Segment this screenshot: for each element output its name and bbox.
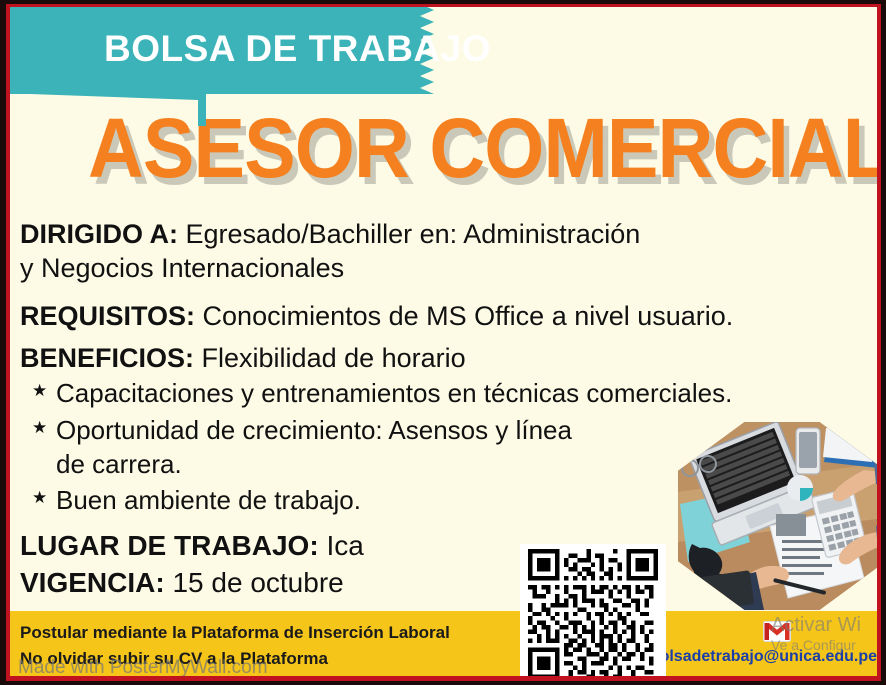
list-item: ★ Oportunidad de crecimiento: Asensos y … — [20, 415, 850, 445]
qr-code[interactable] — [520, 544, 666, 684]
header-ribbon: BOLSA DE TRABAJO — [6, 4, 458, 100]
job-posting-poster: BOLSA DE TRABAJO — [0, 0, 886, 685]
section-label: LUGAR DE TRABAJO: — [20, 530, 319, 561]
section-value: Ica — [326, 530, 363, 561]
section-label: VIGENCIA: — [20, 567, 165, 598]
lugar-de-trabajo-row: LUGAR DE TRABAJO: Ica — [20, 528, 364, 564]
star-bullet-icon: ★ — [32, 381, 47, 401]
section-label: BENEFICIOS: — [20, 343, 194, 373]
list-item-label: Oportunidad de crecimiento: Asensos y lí… — [56, 415, 572, 445]
windows-activation-watermark: Activar Wi Ve a Configur — [771, 614, 886, 654]
section-value: 15 de octubre — [172, 567, 343, 598]
vigencia-row: VIGENCIA: 15 de octubre — [20, 565, 364, 601]
activation-line-2: Ve a Configur — [771, 636, 886, 654]
place-and-validity: LUGAR DE TRABAJO: Ica VIGENCIA: 15 de oc… — [20, 528, 364, 603]
section-value: Flexibilidad de horario — [202, 343, 466, 373]
spacer — [20, 335, 850, 343]
section-value: Conocimientos de MS Office a nivel usuar… — [203, 301, 734, 331]
section-value: Egresado/Bachiller en: Administración — [186, 219, 641, 249]
frame-accent-bottom — [6, 676, 881, 681]
frame-accent-left — [6, 4, 10, 681]
list-item-continuation: de carrera. — [20, 449, 850, 479]
list-item: ★ Capacitaciones y entrenamientos en téc… — [20, 378, 850, 408]
section-label: DIRIGIDO A: — [20, 219, 178, 249]
section-beneficios: BENEFICIOS: Flexibilidad de horario — [20, 343, 850, 375]
spacer — [20, 287, 850, 301]
benefits-list: ★ Capacitaciones y entrenamientos en téc… — [20, 378, 850, 515]
activation-line-1: Activar Wi — [771, 614, 886, 636]
section-dirigido-a: DIRIGIDO A: Egresado/Bachiller en: Admin… — [20, 219, 850, 251]
poster-body: DIRIGIDO A: Egresado/Bachiller en: Admin… — [20, 219, 850, 521]
list-item: ★ Buen ambiente de trabajo. — [20, 485, 850, 515]
frame-accent-right — [877, 4, 881, 681]
list-item-label: Buen ambiente de trabajo. — [56, 485, 361, 515]
star-bullet-icon: ★ — [32, 488, 47, 508]
banner-title: BOLSA DE TRABAJO — [104, 28, 491, 70]
section-dirigido-a-cont: y Negocios Internacionales — [20, 253, 850, 285]
list-item-label: Capacitaciones y entrenamientos en técni… — [56, 378, 732, 408]
section-label: REQUISITOS: — [20, 301, 195, 331]
star-bullet-icon: ★ — [32, 418, 47, 438]
section-requisitos: REQUISITOS: Conocimientos de MS Office a… — [20, 301, 850, 333]
frame-accent-top — [6, 4, 881, 7]
page-title: ASESOR COMERCIAL — [88, 106, 886, 190]
footer-line-1: Postular mediante la Plataforma de Inser… — [20, 620, 450, 646]
